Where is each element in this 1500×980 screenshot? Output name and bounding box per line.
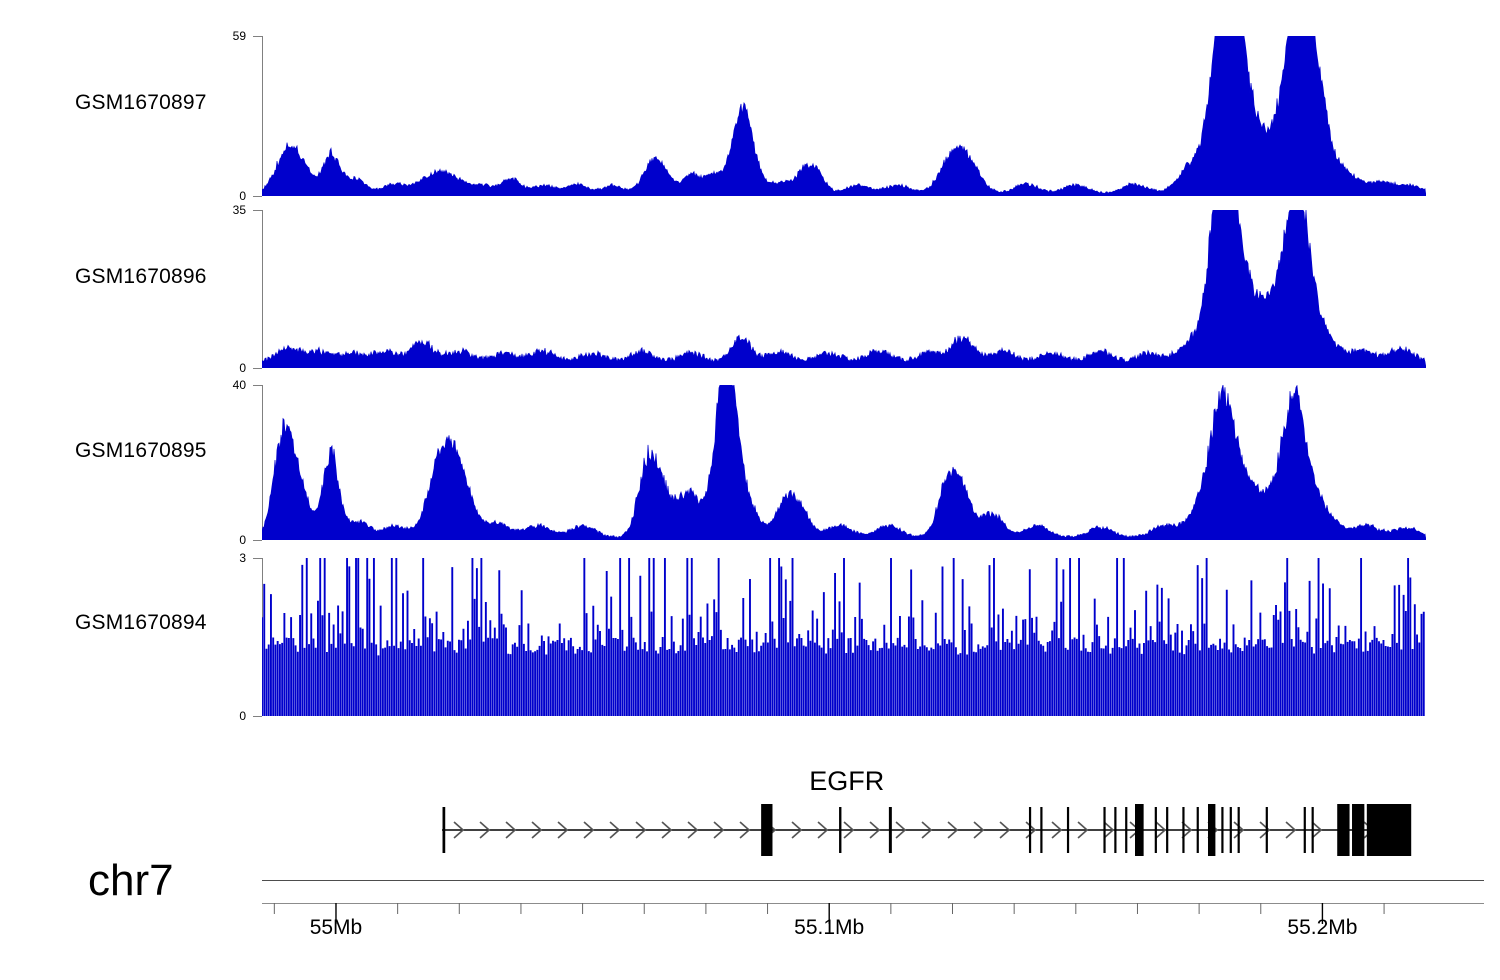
y-axis-max-tick [253, 385, 262, 386]
signal-plot-GSM1670894[interactable] [262, 558, 1426, 716]
y-axis-max-label-GSM1670896: 35 [206, 204, 246, 216]
track-label-GSM1670897: GSM1670897 [75, 91, 207, 115]
exon-block[interactable] [1197, 807, 1199, 853]
exon-block[interactable] [1114, 807, 1116, 853]
y-axis-min-label-GSM1670895: 0 [206, 534, 246, 546]
exon-block[interactable] [1155, 807, 1157, 853]
exon-block[interactable] [1337, 804, 1349, 856]
signal-plot-GSM1670896[interactable] [262, 210, 1426, 368]
exon-block[interactable] [1304, 807, 1306, 853]
exon-block[interactable] [839, 807, 841, 853]
y-axis-min-label-GSM1670894: 0 [206, 710, 246, 722]
coverage-area [262, 385, 1426, 540]
exon-block[interactable] [1356, 807, 1358, 853]
exon-block[interactable] [1067, 807, 1069, 853]
exon-block[interactable] [1238, 807, 1240, 853]
y-axis-max-label-GSM1670894: 3 [206, 552, 246, 564]
y-axis-max-label-GSM1670897: 59 [206, 30, 246, 42]
exon-block[interactable] [1345, 807, 1347, 853]
signal-area-GSM1670897 [262, 36, 1426, 196]
exon-block[interactable] [1362, 807, 1364, 853]
exon-block[interactable] [1103, 807, 1105, 853]
genome-browser: GSM1670897590GSM1670896350GSM1670895400G… [0, 0, 1500, 980]
signal-plot-GSM1670897[interactable] [262, 36, 1426, 196]
track-label-GSM1670894: GSM1670894 [75, 611, 207, 635]
exon-block[interactable] [1135, 804, 1144, 856]
exon-block[interactable] [889, 807, 892, 853]
signal-area-GSM1670895 [262, 385, 1426, 540]
exon-block[interactable] [443, 807, 446, 853]
y-axis-max-label-GSM1670895: 40 [206, 379, 246, 391]
exon-block[interactable] [1230, 807, 1232, 853]
exon-block[interactable] [1221, 807, 1223, 853]
y-axis-min-tick [253, 540, 262, 541]
noise-bars [262, 558, 1424, 716]
track-label-GSM1670895: GSM1670895 [75, 439, 207, 463]
y-axis-max-tick [253, 210, 262, 211]
y-axis-min-tick [253, 716, 262, 717]
y-axis-min-label-GSM1670897: 0 [206, 190, 246, 202]
signal-area-GSM1670894 [262, 558, 1426, 716]
signal-plot-GSM1670895[interactable] [262, 385, 1426, 540]
y-axis-min-label-GSM1670896: 0 [206, 362, 246, 374]
exon-block[interactable] [1312, 807, 1314, 853]
gene-annotation-track[interactable]: EGFR [0, 760, 1500, 880]
ruler-ticks[interactable] [0, 884, 1500, 929]
y-axis-min-tick [253, 368, 262, 369]
ruler-tick-label: 55.2Mb [1287, 916, 1357, 940]
ruler-tick-label: 55.1Mb [794, 916, 864, 940]
y-axis-min-tick [253, 196, 262, 197]
track-label-GSM1670896: GSM1670896 [75, 265, 207, 289]
y-axis-max-tick [253, 36, 262, 37]
exon-block[interactable] [1040, 807, 1042, 853]
exon-block[interactable] [761, 804, 772, 856]
exon-block[interactable] [1266, 807, 1268, 853]
signal-area-GSM1670896 [262, 210, 1426, 368]
gene-model-glyph[interactable] [0, 760, 1500, 885]
coverage-area [262, 36, 1426, 196]
exon-block[interactable] [1029, 807, 1031, 853]
exon-block[interactable] [1367, 804, 1411, 856]
exon-block[interactable] [1182, 807, 1184, 853]
exon-block[interactable] [1125, 807, 1127, 853]
exon-block[interactable] [1208, 804, 1215, 856]
coverage-area [262, 210, 1426, 368]
gene-track-baseline [262, 880, 1484, 881]
ruler-tick-label: 55Mb [310, 916, 363, 940]
y-axis-max-tick [253, 558, 262, 559]
exon-block[interactable] [1166, 807, 1168, 853]
